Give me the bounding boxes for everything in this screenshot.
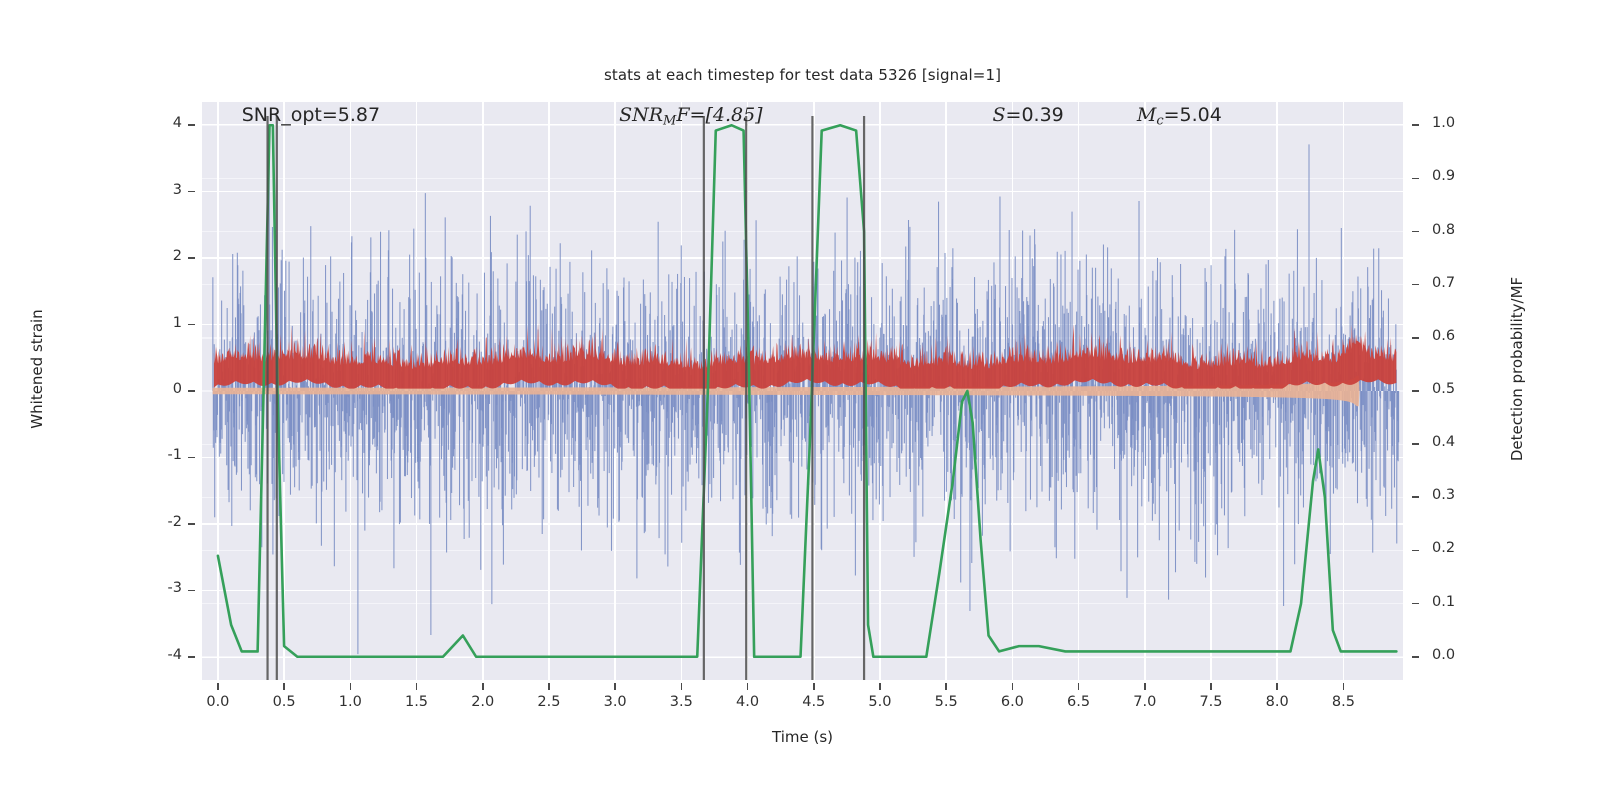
axis-tick-mark [747,683,749,690]
axis-tick-mark [879,683,881,690]
y-axis-left-tick-4: 4 [0,115,182,131]
axis-tick-mark [188,523,195,525]
y-axis-left-tick--2: -2 [0,514,182,530]
y-axis-right-tick-1.0: 1.0 [1432,115,1455,131]
x-axis-tick-2.0: 2.0 [453,694,513,710]
y-axis-left-label-text: Whitened strain [28,274,46,464]
axis-tick-mark [614,683,616,690]
y-axis-right-tick-0.2: 0.2 [1432,540,1455,556]
x-axis-tick-5.5: 5.5 [916,694,976,710]
y-axis-left-tick-3: 3 [0,182,182,198]
y-axis-left-tick-0: 0 [0,381,182,397]
y-axis-left-tick-2: 2 [0,248,182,264]
axis-tick-mark [1078,683,1080,690]
annotation-s-symbol: S [993,104,1006,126]
axis-tick-mark [1343,683,1345,690]
x-axis-tick-3.0: 3.0 [585,694,645,710]
x-axis-tick-5.0: 5.0 [850,694,910,710]
x-axis-label: Time (s) [202,728,1403,746]
x-axis-tick-4.0: 4.0 [718,694,778,710]
series-signal-noise [213,144,1399,654]
annotation-s-value: S=0.39 [993,104,1064,126]
axis-tick-mark [1276,683,1278,690]
y-axis-right-tick-0.5: 0.5 [1432,381,1455,397]
y-axis-right-tick-0.6: 0.6 [1432,328,1455,344]
annotation-s-number: =0.39 [1006,104,1064,126]
annotation-mc-symbol: Mc [1137,104,1164,126]
axis-tick-mark [217,683,219,690]
annotation-chirp-mass: Mc=5.04 [1137,104,1222,128]
x-axis-tick-3.5: 3.5 [651,694,711,710]
x-axis-tick-6.5: 6.5 [1049,694,1109,710]
x-axis-tick-0.5: 0.5 [254,694,314,710]
annotation-snr-mf: SNRMF=[4.85] [619,104,763,128]
annotation-snr-opt: SNR_opt=5.87 [242,104,380,126]
x-axis-tick-7.5: 7.5 [1181,694,1241,710]
axis-tick-mark [1412,124,1419,126]
y-axis-right-tick-0.4: 0.4 [1432,434,1455,450]
axis-tick-mark [548,683,550,690]
figure-canvas: stats at each timestep for test data 532… [0,0,1600,800]
axis-tick-mark [188,656,195,658]
y-axis-right-tick-0.9: 0.9 [1432,168,1455,184]
x-axis-tick-4.5: 4.5 [784,694,844,710]
annotation-snr-opt-text: SNR_opt=5.87 [242,104,380,126]
axis-tick-mark [1412,178,1419,180]
y-axis-right-tick-0.3: 0.3 [1432,487,1455,503]
x-axis-tick-2.5: 2.5 [519,694,579,710]
axis-tick-mark [188,457,195,459]
x-axis-tick-8.5: 8.5 [1313,694,1373,710]
axis-tick-mark [1412,550,1419,552]
x-axis-tick-7.0: 7.0 [1115,694,1175,710]
axis-tick-mark [1012,683,1014,690]
y-axis-right-label-text: Detection probability/MF [1508,254,1526,484]
axis-tick-mark [1412,656,1419,658]
x-axis-tick-0.0: 0.0 [188,694,248,710]
axis-tick-mark [945,683,947,690]
series-matched-filter [214,323,1396,388]
x-axis-tick-6.0: 6.0 [982,694,1042,710]
y-axis-left-tick--4: -4 [0,647,182,663]
x-axis-tick-1.0: 1.0 [320,694,380,710]
axis-tick-mark [1210,683,1212,690]
y-axis-right-tick-0.7: 0.7 [1432,275,1455,291]
axis-tick-mark [1412,496,1419,498]
axis-tick-mark [1412,603,1419,605]
axis-tick-mark [1412,390,1419,392]
y-axis-left-tick--3: -3 [0,580,182,596]
y-axis-right-tick-0.1: 0.1 [1432,594,1455,610]
axis-tick-mark [681,683,683,690]
axis-tick-mark [416,683,418,690]
chart-title: stats at each timestep for test data 532… [202,66,1403,84]
x-axis-tick-8.0: 8.0 [1247,694,1307,710]
axis-tick-mark [1144,683,1146,690]
y-axis-left-tick--1: -1 [0,447,182,463]
axis-tick-mark [283,683,285,690]
plot-area: SNR_opt=5.87SNRMF=[4.85]S=0.39Mc=5.04 si… [202,102,1403,680]
axis-tick-mark [1412,443,1419,445]
annotation-snr-mf-text: SNRMF=[4.85] [619,104,763,126]
axis-tick-mark [188,390,195,392]
axis-tick-mark [188,590,195,592]
axis-tick-mark [188,257,195,259]
axis-tick-mark [1412,337,1419,339]
y-axis-right-tick-0.0: 0.0 [1432,647,1455,663]
axis-tick-mark [188,324,195,326]
axis-tick-mark [813,683,815,690]
annotation-mc-number: =5.04 [1164,104,1222,126]
axis-tick-mark [1412,231,1419,233]
y-axis-right-tick-0.8: 0.8 [1432,222,1455,238]
axis-tick-mark [1412,284,1419,286]
axis-tick-mark [482,683,484,690]
axis-tick-mark [188,124,195,126]
axis-tick-mark [188,191,195,193]
y-axis-left-tick-1: 1 [0,315,182,331]
x-axis-tick-1.5: 1.5 [387,694,447,710]
plot-series-layer [202,102,1403,680]
axis-tick-mark [350,683,352,690]
